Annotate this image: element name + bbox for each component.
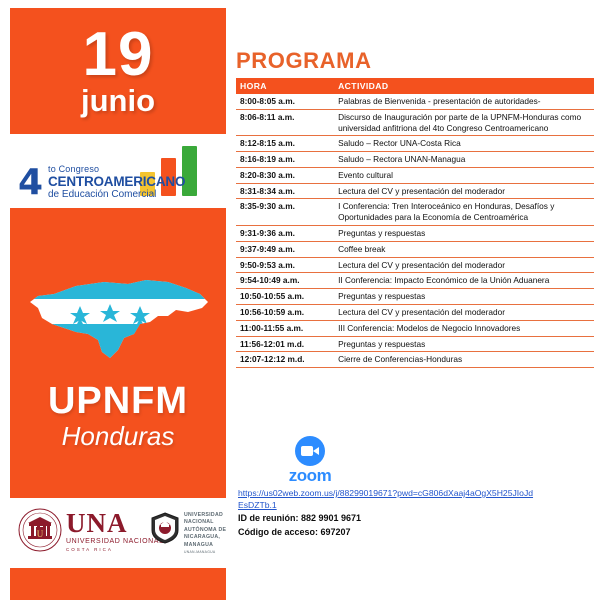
cell-actividad: Preguntas y respuestas: [334, 226, 594, 242]
table-row: 9:50-9:53 a.m.Lectura del CV y presentac…: [236, 257, 594, 273]
table-row: 9:54-10:49 a.m.II Conferencia: Impacto E…: [236, 273, 594, 289]
table-row: 8:20-8:30 a.m.Evento cultural: [236, 167, 594, 183]
cell-actividad: II Conferencia: Impacto Económico de la …: [334, 273, 594, 289]
cell-hora: 9:54-10:49 a.m.: [236, 273, 334, 289]
una-seal-icon: U: [18, 508, 62, 552]
table-row: 8:00-8:05 a.m.Palabras de Bienvenida - p…: [236, 94, 594, 109]
cell-hora: 8:06-8:11 a.m.: [236, 109, 334, 136]
table-row: 8:35-9:30 a.m.I Conferencia: Tren Intero…: [236, 199, 594, 226]
brand-country: Honduras: [10, 422, 226, 452]
university-logos-strip: U UNA UNIVERSIDAD NACIONAL COSTA RICA UN…: [10, 504, 226, 560]
flyer-page: 19 junio 4 to Congreso CENTROAMERICANO d…: [0, 0, 600, 600]
congress-logo: 4 to Congreso CENTROAMERICANO de Educaci…: [16, 140, 222, 202]
cell-actividad: Coffee break: [334, 241, 594, 257]
una-country: COSTA RICA: [66, 547, 164, 552]
cell-hora: 10:56-10:59 a.m.: [236, 304, 334, 320]
una-logo-text: UNA UNIVERSIDAD NACIONAL COSTA RICA: [66, 510, 164, 552]
table-row: 9:37-9:49 a.m.Coffee break: [236, 241, 594, 257]
unan-line-5: MANAGUA: [184, 542, 238, 549]
cell-hora: 8:20-8:30 a.m.: [236, 167, 334, 183]
table-row: 11:00-11:55 a.m.III Conferencia: Modelos…: [236, 320, 594, 336]
una-acronym: UNA: [66, 510, 164, 537]
cell-actividad: I Conferencia: Tren Interoceánico en Hon…: [334, 199, 594, 226]
table-row: 10:56-10:59 a.m.Lectura del CV y present…: [236, 304, 594, 320]
cell-hora: 11:00-11:55 a.m.: [236, 320, 334, 336]
bottom-orange-strip: [10, 568, 226, 600]
una-name: UNIVERSIDAD NACIONAL: [66, 538, 164, 546]
brand-block: UPNFM Honduras: [10, 382, 226, 452]
cell-hora: 11:56-12:01 m.d.: [236, 336, 334, 352]
right-column: PROGRAMA HORA ACTIVIDAD 8:00-8:05 a.m.Pa…: [236, 0, 600, 600]
cell-actividad: Discurso de Inauguración por parte de la…: [334, 109, 594, 136]
congress-line2: CENTROAMERICANO: [48, 175, 185, 189]
cell-hora: 10:50-10:55 a.m.: [236, 289, 334, 305]
video-camera-icon: [295, 436, 325, 466]
congress-line3: de Educación Comercial: [48, 189, 185, 200]
table-row: 8:12-8:15 a.m.Saludo – Rector UNA-Costa …: [236, 136, 594, 152]
program-table: HORA ACTIVIDAD 8:00-8:05 a.m.Palabras de…: [236, 78, 594, 368]
table-row: 8:31-8:34 a.m.Lectura del CV y presentac…: [236, 183, 594, 199]
cell-hora: 9:31-9:36 a.m.: [236, 226, 334, 242]
cell-actividad: Lectura del CV y presentación del modera…: [334, 183, 594, 199]
cell-hora: 8:35-9:30 a.m.: [236, 199, 334, 226]
cell-actividad: Lectura del CV y presentación del modera…: [334, 257, 594, 273]
cell-actividad: Lectura del CV y presentación del modera…: [334, 304, 594, 320]
brand-name: UPNFM: [10, 382, 226, 420]
zoom-logo: zoom: [264, 436, 356, 484]
date-month: junio: [81, 85, 155, 116]
program-table-body: 8:00-8:05 a.m.Palabras de Bienvenida - p…: [236, 94, 594, 368]
congress-logo-text: to Congreso CENTROAMERICANO de Educación…: [48, 165, 185, 200]
zoom-wordmark: zoom: [264, 467, 356, 484]
table-row: 10:50-10:55 a.m.Preguntas y respuestas: [236, 289, 594, 305]
cell-hora: 9:50-9:53 a.m.: [236, 257, 334, 273]
table-row: 9:31-9:36 a.m.Preguntas y respuestas: [236, 226, 594, 242]
honduras-map-icon: [18, 272, 218, 368]
zoom-meeting-id: ID de reunión: 882 9901 9671: [238, 512, 598, 525]
cell-hora: 8:12-8:15 a.m.: [236, 136, 334, 152]
cell-actividad: Saludo – Rector UNA-Costa Rica: [334, 136, 594, 152]
cell-hora: 8:00-8:05 a.m.: [236, 94, 334, 109]
unan-seal-icon: [150, 512, 180, 544]
left-column: 19 junio 4 to Congreso CENTROAMERICANO d…: [0, 0, 228, 600]
unan-line-2: NACIONAL: [184, 519, 238, 526]
table-row: 8:16-8:19 a.m.Saludo – Rectora UNAN-Mana…: [236, 152, 594, 168]
cell-hora: 12:07-12:12 m.d.: [236, 352, 334, 368]
table-row: 12:07-12:12 m.d.Cierre de Conferencias-H…: [236, 352, 594, 368]
page-title: PROGRAMA: [236, 48, 372, 74]
date-day: 19: [83, 26, 154, 83]
cell-actividad: Evento cultural: [334, 167, 594, 183]
zoom-block: zoom https://us02web.zoom.us/j/882990196…: [238, 436, 598, 539]
table-row: 8:06-8:11 a.m.Discurso de Inauguración p…: [236, 109, 594, 136]
cell-actividad: Preguntas y respuestas: [334, 289, 594, 305]
unan-line-1: UNIVERSIDAD: [184, 512, 238, 519]
unan-logo-text: UNIVERSIDAD NACIONAL AUTÓNOMA DE NICARAG…: [184, 512, 238, 555]
cell-hora: 8:31-8:34 a.m.: [236, 183, 334, 199]
cell-hora: 9:37-9:49 a.m.: [236, 241, 334, 257]
column-header-actividad: ACTIVIDAD: [334, 78, 594, 94]
unan-tagline: UNAN-MANAGUA: [184, 550, 238, 555]
svg-text:U: U: [37, 529, 44, 539]
date-block: 19 junio: [10, 8, 226, 134]
cell-hora: 8:16-8:19 a.m.: [236, 152, 334, 168]
unan-line-3: AUTÓNOMA DE: [184, 527, 238, 534]
zoom-meeting-link[interactable]: https://us02web.zoom.us/j/88299019671?pw…: [238, 488, 538, 511]
cell-actividad: Saludo – Rectora UNAN-Managua: [334, 152, 594, 168]
table-row: 11:56-12:01 m.d.Preguntas y respuestas: [236, 336, 594, 352]
unan-line-4: NICARAGUA,: [184, 534, 238, 541]
cell-actividad: III Conferencia: Modelos de Negocio Inno…: [334, 320, 594, 336]
column-header-hora: HORA: [236, 78, 334, 94]
cell-actividad: Palabras de Bienvenida - presentación de…: [334, 94, 594, 109]
congress-number: 4: [18, 165, 43, 201]
table-header-row: HORA ACTIVIDAD: [236, 78, 594, 94]
zoom-passcode: Código de acceso: 697207: [238, 526, 598, 539]
cell-actividad: Cierre de Conferencias-Honduras: [334, 352, 594, 368]
cell-actividad: Preguntas y respuestas: [334, 336, 594, 352]
